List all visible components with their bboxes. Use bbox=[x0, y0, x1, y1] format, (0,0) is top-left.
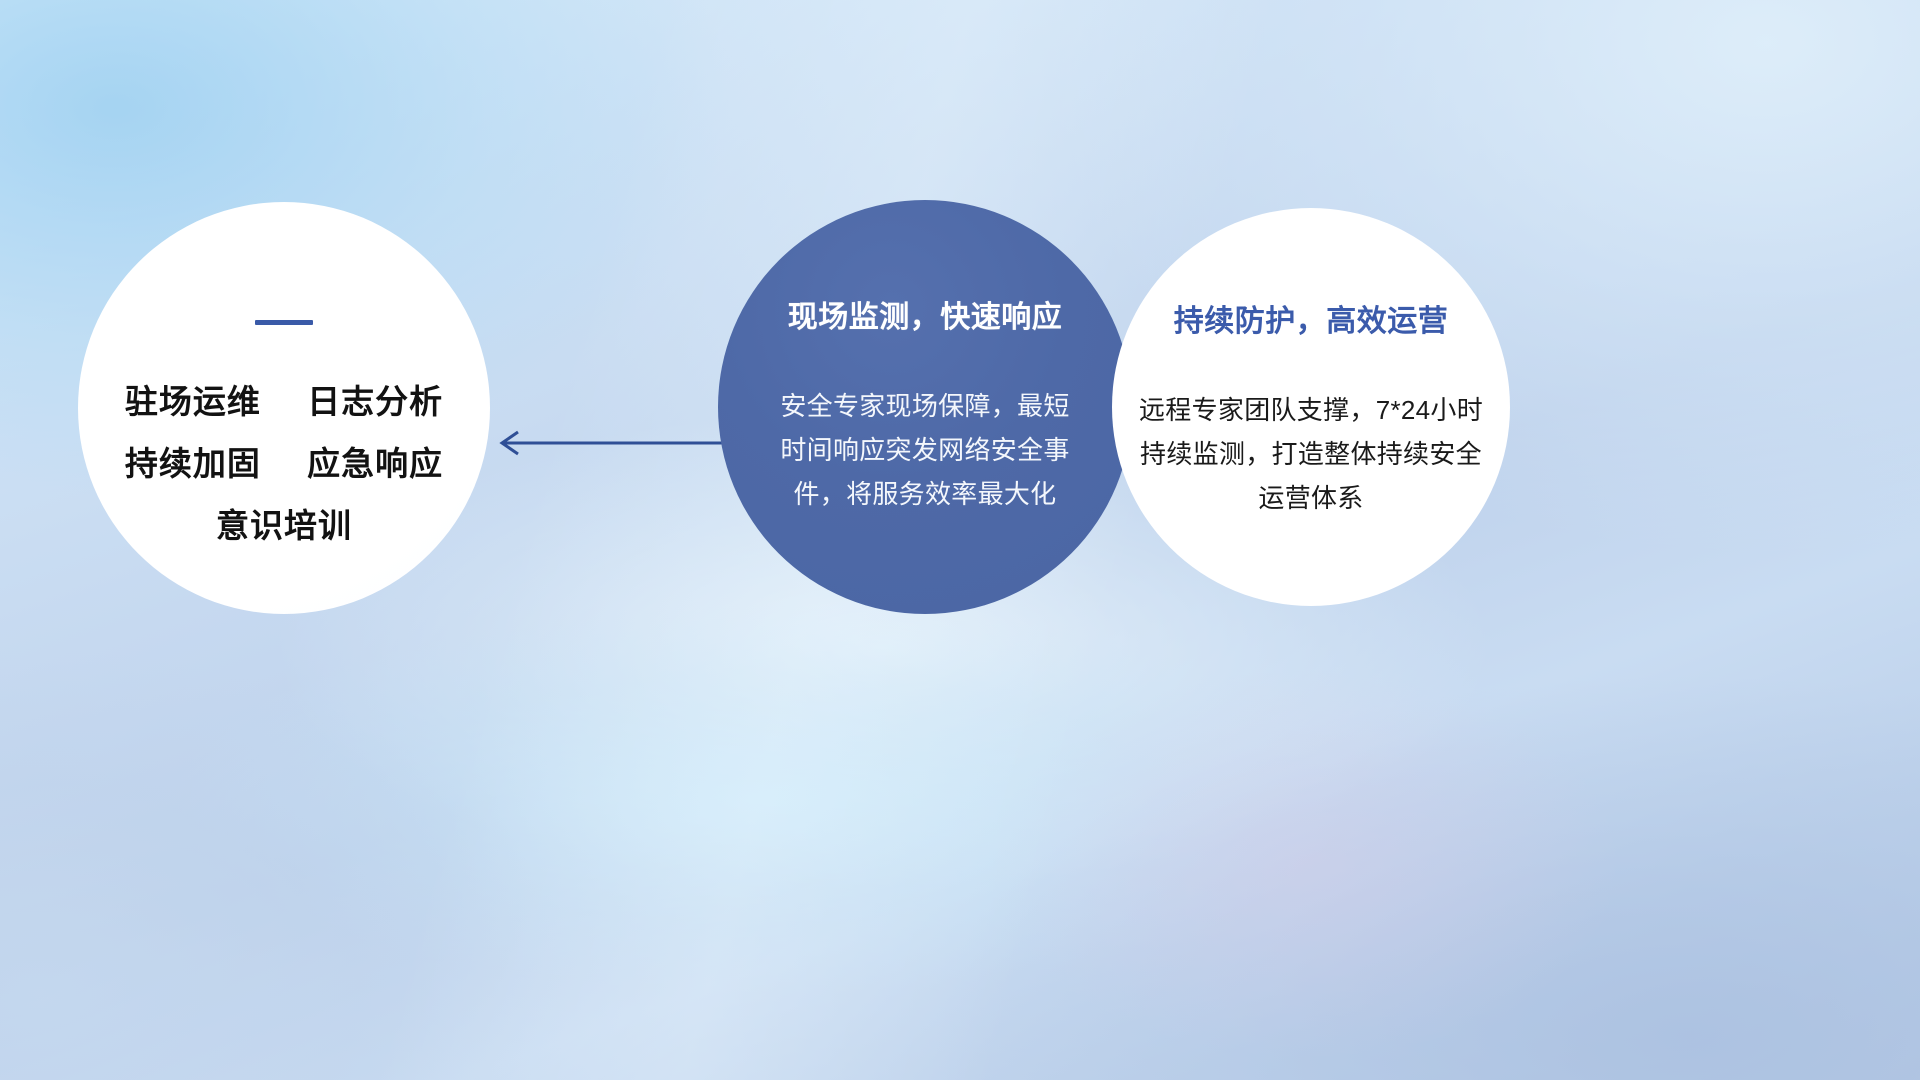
right-circle-shape bbox=[1112, 208, 1510, 606]
left-circle-shape bbox=[78, 202, 490, 614]
middle-circle-shape bbox=[718, 200, 1132, 614]
slide-canvas: 驻场运维 日志分析 持续加固 应急响应 意识培训 现场监测，快速响应 安全专家现… bbox=[0, 0, 1920, 1080]
